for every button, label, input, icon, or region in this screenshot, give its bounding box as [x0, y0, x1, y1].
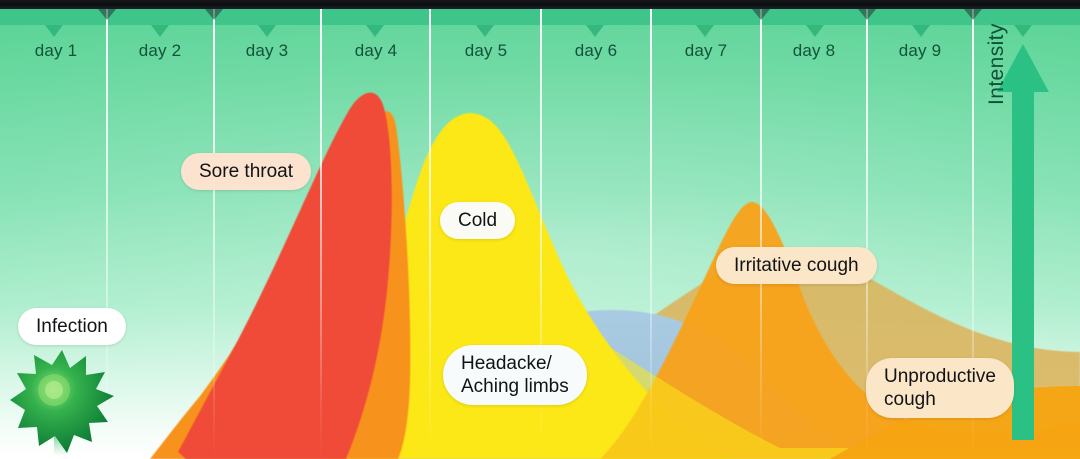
label-sore-throat: Sore throat [181, 153, 311, 190]
label-infection: Infection [18, 308, 126, 345]
tick-notch [858, 9, 876, 20]
tick-notch [258, 25, 276, 37]
x-tick-day-4: day 4 [324, 41, 428, 61]
virus-icon [10, 348, 114, 456]
x-tick-day-8: day 8 [764, 41, 864, 61]
tick-notch [1014, 25, 1032, 37]
tick-notch [912, 25, 930, 37]
infographic-canvas: day 1 day 2 day 3 day 4 day 5 day 6 day … [0, 0, 1080, 459]
tick-notch [151, 25, 169, 37]
tick-notch [476, 25, 494, 37]
x-tick-day-5: day 5 [434, 41, 538, 61]
tick-notch [586, 25, 604, 37]
tick-notch [752, 9, 770, 20]
gridline [429, 9, 431, 459]
tick-notch [98, 9, 116, 20]
gridline [650, 9, 652, 459]
label-headache: Headacke/ Aching limbs [443, 345, 587, 405]
gridline [320, 9, 322, 459]
x-tick-day-2: day 2 [110, 41, 210, 61]
x-tick-day-6: day 6 [544, 41, 648, 61]
label-irritative-cough: Irritative cough [716, 247, 877, 284]
x-tick-day-1: day 1 [6, 41, 106, 61]
y-axis-label: Intensity [985, 0, 1009, 105]
x-tick-day-3: day 3 [216, 41, 318, 61]
x-tick-day-9: day 9 [870, 41, 970, 61]
tick-notch [366, 25, 384, 37]
gridline [760, 9, 762, 459]
label-unproductive-cough: Unproductive cough [866, 358, 1014, 418]
tick-notch [45, 25, 63, 37]
x-tick-day-7: day 7 [654, 41, 758, 61]
tick-notch [205, 9, 223, 20]
gridline [213, 9, 215, 459]
tick-notch [696, 25, 714, 37]
tick-notch [964, 9, 982, 20]
tick-notch [806, 25, 824, 37]
label-cold: Cold [440, 202, 515, 239]
